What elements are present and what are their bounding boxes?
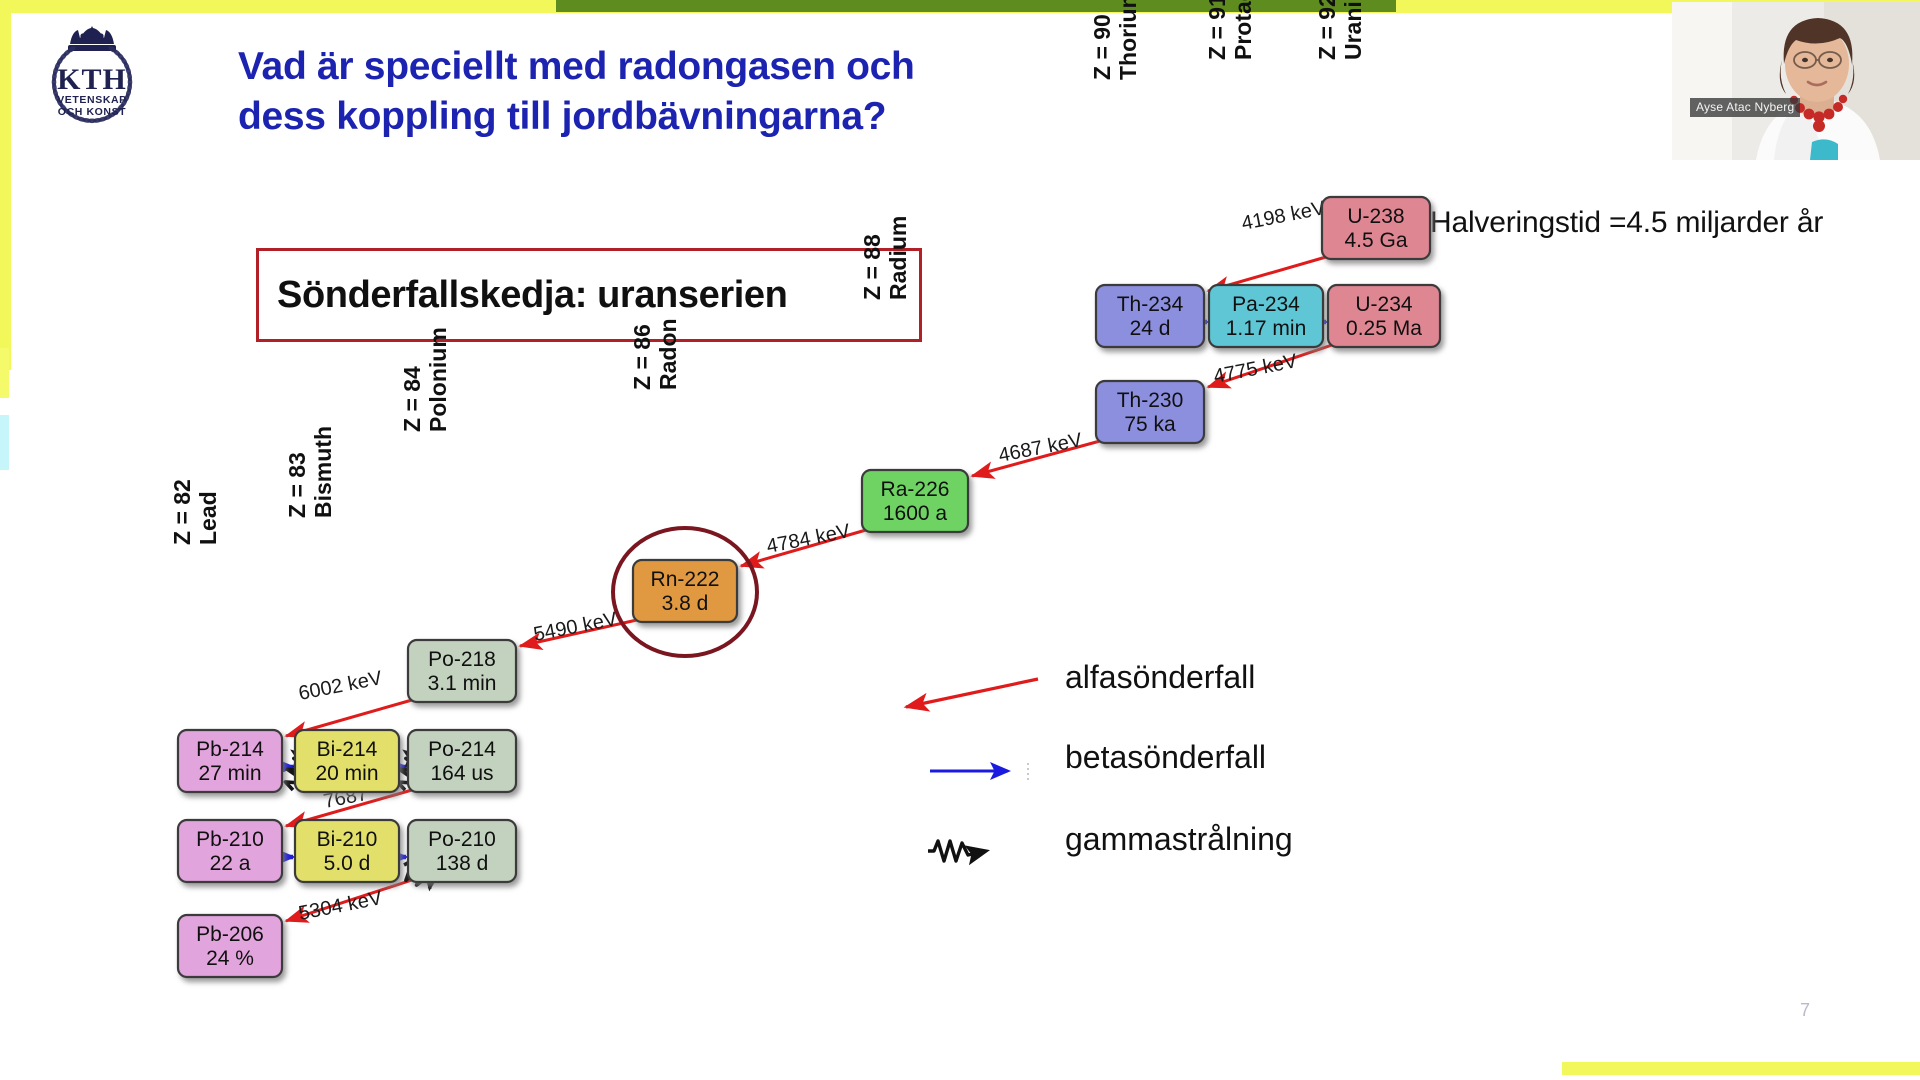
element-column-label: Z = 92Uranium [1314, 0, 1366, 60]
legend-item-alpha: alfasönderfall [890, 665, 1450, 743]
nuclide-box-bi214: Bi-21420 min [295, 730, 399, 792]
svg-text:Bi-214: Bi-214 [317, 738, 378, 761]
legend-label-gamma: gammastrålning [1065, 821, 1293, 858]
svg-text:75 ka: 75 ka [1124, 413, 1176, 436]
page-number: 7 [1800, 1000, 1810, 1021]
nuclide-box-ra226: Ra-2261600 a [862, 470, 968, 532]
svg-text:Radon: Radon [655, 318, 681, 390]
svg-text:1.17 min: 1.17 min [1226, 317, 1307, 340]
svg-text:Th-234: Th-234 [1117, 293, 1184, 316]
element-column-labels: Z = 82LeadZ = 83BismuthZ = 84PoloniumZ =… [169, 0, 1366, 545]
svg-text:4784 keV: 4784 keV [765, 520, 853, 558]
svg-text:3.1 min: 3.1 min [428, 672, 497, 695]
legend-label-alpha: alfasönderfall [1065, 659, 1255, 696]
svg-text:Lead: Lead [195, 491, 221, 545]
svg-text:4687 keV: 4687 keV [997, 429, 1085, 467]
nuclide-box-rn222: Rn-2223.8 d [633, 560, 737, 622]
alpha-energy-label: 6002 keV [297, 667, 385, 705]
svg-text:5490 keV: 5490 keV [532, 608, 620, 646]
element-column-label: Z = 82Lead [169, 479, 221, 545]
svg-text:Z = 91: Z = 91 [1204, 0, 1230, 60]
svg-text:24 %: 24 % [206, 947, 254, 970]
svg-text:Po-218: Po-218 [428, 648, 496, 671]
svg-text:5.0 d: 5.0 d [324, 852, 371, 875]
squiggle-arrow-icon [890, 821, 1055, 881]
svg-text:Z = 90: Z = 90 [1089, 14, 1115, 80]
element-column-label: Z = 84Polonium [399, 327, 451, 432]
svg-text:Z = 92: Z = 92 [1314, 0, 1340, 60]
element-column-label: Z = 86Radon [629, 318, 681, 390]
svg-text:Thorium: Thorium [1115, 0, 1141, 80]
blue-arrow-icon [890, 743, 1055, 803]
svg-text:Z = 82: Z = 82 [169, 479, 195, 545]
element-column-label: Z = 83Bismuth [284, 426, 336, 518]
svg-text:Z = 88: Z = 88 [859, 234, 885, 300]
nuclide-box-po210: Po-210138 d [408, 820, 516, 882]
alpha-energy-label: 5490 keV [532, 608, 620, 646]
svg-text:3.8 d: 3.8 d [662, 592, 709, 615]
svg-text:Po-210: Po-210 [428, 828, 496, 851]
nuclide-box-pa234: Pa-2341.17 min [1209, 285, 1323, 347]
svg-text:24 d: 24 d [1130, 317, 1171, 340]
element-column-label: Z = 91Protactinium [1204, 0, 1256, 60]
nuclide-box-bi210: Bi-2105.0 d [295, 820, 399, 882]
svg-text:U-238: U-238 [1347, 205, 1404, 228]
svg-text:Rn-222: Rn-222 [651, 568, 720, 591]
svg-text:Uranium: Uranium [1340, 0, 1366, 60]
alpha-energy-label: 4687 keV [997, 429, 1085, 467]
nuclide-box-u238: U-2384.5 Ga [1322, 197, 1430, 259]
svg-text:138 d: 138 d [436, 852, 489, 875]
red-arrow-icon [890, 665, 1055, 725]
alpha-energy-label: 4198 keV [1240, 197, 1328, 235]
svg-text:Z = 83: Z = 83 [284, 452, 310, 518]
svg-text:4775 keV: 4775 keV [1212, 350, 1300, 388]
svg-text:0.25 Ma: 0.25 Ma [1346, 317, 1422, 340]
svg-text:Pa-234: Pa-234 [1232, 293, 1300, 316]
svg-text:Po-214: Po-214 [428, 738, 496, 761]
svg-text:Radium: Radium [885, 216, 911, 300]
svg-text:1600 a: 1600 a [883, 502, 948, 525]
participant-name-badge: Ayse Atac Nyberg [1690, 98, 1800, 117]
legend: alfasönderfall betasönderfall gammastrål… [890, 665, 1450, 899]
nuclide-box-th234: Th-23424 d [1096, 285, 1204, 347]
svg-text:Bi-210: Bi-210 [317, 828, 378, 851]
svg-text:20 min: 20 min [315, 762, 378, 785]
nuclide-box-pb210: Pb-21022 a [178, 820, 282, 882]
svg-text:Protactinium: Protactinium [1230, 0, 1256, 60]
svg-text:Th-230: Th-230 [1117, 389, 1184, 412]
participant-video-image [1672, 2, 1920, 160]
svg-text:4198 keV: 4198 keV [1240, 197, 1328, 235]
svg-text:5304 keV: 5304 keV [297, 887, 385, 925]
svg-text:Bismuth: Bismuth [310, 426, 336, 518]
svg-text:Polonium: Polonium [425, 327, 451, 432]
nuclide-box-po218: Po-2183.1 min [408, 640, 516, 702]
svg-text:Ra-226: Ra-226 [881, 478, 950, 501]
element-column-label: Z = 90Thorium [1089, 0, 1141, 80]
alpha-energy-label: 4784 keV [765, 520, 853, 558]
legend-label-beta: betasönderfall [1065, 739, 1266, 776]
svg-text:164 us: 164 us [430, 762, 493, 785]
svg-text:Pb-206: Pb-206 [196, 923, 264, 946]
svg-text:4.5 Ga: 4.5 Ga [1344, 229, 1407, 252]
video-participant-tile[interactable]: Ayse Atac Nyberg [1672, 2, 1920, 160]
svg-text:Pb-214: Pb-214 [196, 738, 264, 761]
svg-text:27 min: 27 min [198, 762, 261, 785]
svg-text:6002 keV: 6002 keV [297, 667, 385, 705]
decay-chain-diagram: Z = 82LeadZ = 83BismuthZ = 84PoloniumZ =… [0, 0, 1920, 1080]
alpha-energy-label: 5304 keV [297, 887, 385, 925]
nuclide-box-pb206: Pb-20624 % [178, 915, 282, 977]
nuclide-box-u234: U-2340.25 Ma [1328, 285, 1440, 347]
alpha-energy-label: 4775 keV [1212, 350, 1300, 388]
svg-text:Z = 84: Z = 84 [399, 366, 425, 432]
legend-item-gamma: gammastrålning [890, 821, 1450, 899]
svg-text:Pb-210: Pb-210 [196, 828, 264, 851]
nuclide-box-pb214: Pb-21427 min [178, 730, 282, 792]
svg-text:22 a: 22 a [210, 852, 251, 875]
element-column-label: Z = 88Radium [859, 216, 911, 300]
nuclide-box-th230: Th-23075 ka [1096, 381, 1204, 443]
svg-text:Z = 86: Z = 86 [629, 324, 655, 390]
legend-item-beta: betasönderfall [890, 743, 1450, 821]
nuclide-box-po214: Po-214164 us [408, 730, 516, 792]
svg-text:U-234: U-234 [1355, 293, 1413, 316]
